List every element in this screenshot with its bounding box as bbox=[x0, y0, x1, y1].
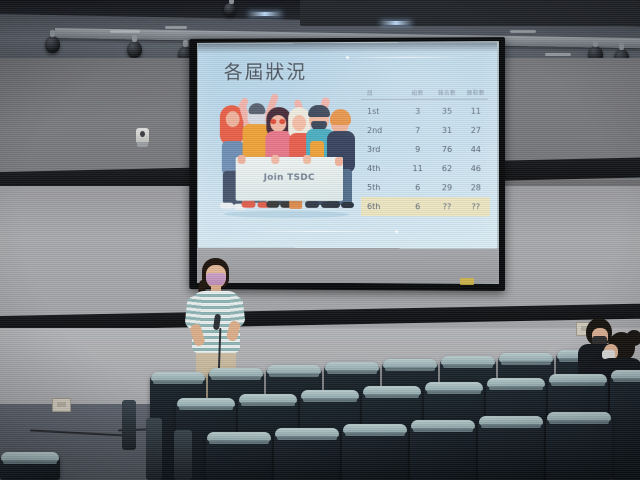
seat bbox=[478, 416, 544, 480]
illustration-ground-shadow bbox=[224, 211, 349, 218]
decor-dot-top bbox=[346, 56, 349, 59]
cell-signups: 29 bbox=[432, 183, 462, 192]
presentation-slide: 各屆狀況 bbox=[198, 42, 497, 248]
table-row: 4th 11 62 46 bbox=[361, 159, 490, 178]
screen-pull-tab bbox=[460, 278, 474, 285]
cell-edition: 3rd bbox=[361, 145, 403, 154]
ceiling-light bbox=[380, 21, 412, 25]
cell-accepted: 27 bbox=[462, 126, 490, 135]
table-row: 5th 6 29 28 bbox=[361, 178, 490, 197]
banner-text: Join TSDC bbox=[236, 173, 343, 183]
cell-teams: 3 bbox=[403, 107, 432, 116]
decor-dot-bottom bbox=[395, 230, 398, 233]
seat bbox=[206, 432, 272, 480]
decor-line-top bbox=[347, 57, 468, 58]
table-row-highlighted: 6th 6 ?? ?? bbox=[361, 197, 490, 216]
cell-signups: 62 bbox=[432, 164, 462, 173]
ceiling-strip bbox=[110, 30, 140, 33]
slide-stats-table: 屆 組數 報名數 錄取數 1st 3 35 11 2nd 7 31 27 3rd… bbox=[361, 83, 490, 217]
ceiling-light bbox=[248, 12, 282, 16]
seat bbox=[610, 370, 640, 480]
ceiling-beam bbox=[300, 0, 640, 26]
spotlight-icon bbox=[127, 41, 142, 58]
spotlight-icon bbox=[45, 36, 60, 53]
cell-teams: 6 bbox=[403, 183, 432, 192]
cell-accepted: 11 bbox=[462, 107, 490, 116]
wall-camera-icon bbox=[136, 128, 149, 143]
cell-teams: 11 bbox=[403, 164, 432, 173]
spotlight-icon bbox=[224, 3, 236, 16]
seat-armrest bbox=[174, 430, 192, 480]
cell-signups: 76 bbox=[432, 145, 462, 154]
slide-illustration: Join TSDC bbox=[212, 91, 359, 223]
ceiling-strip bbox=[510, 30, 536, 33]
table-header-accepted: 錄取數 bbox=[462, 88, 490, 96]
seat bbox=[342, 424, 408, 480]
illustration-banner: Join TSDC bbox=[236, 157, 343, 201]
cell-teams: 7 bbox=[403, 126, 432, 135]
seat bbox=[0, 452, 60, 480]
wall-outlet-icon bbox=[52, 398, 71, 412]
cell-edition: 4th bbox=[361, 164, 403, 173]
decor-line-bottom bbox=[238, 231, 397, 233]
cell-signups: ?? bbox=[432, 202, 462, 211]
table-header-teams: 組數 bbox=[403, 88, 432, 96]
ceiling-strip bbox=[165, 26, 187, 29]
cell-accepted: ?? bbox=[462, 202, 490, 211]
seat-armrest bbox=[122, 400, 136, 450]
cell-teams: 6 bbox=[403, 202, 432, 211]
table-row: 1st 3 35 11 bbox=[361, 102, 490, 121]
slide-title: 各屆狀況 bbox=[224, 57, 307, 84]
cell-edition: 5th bbox=[361, 183, 403, 192]
ceiling-strip bbox=[545, 53, 571, 56]
cell-accepted: 46 bbox=[462, 164, 490, 173]
cell-accepted: 28 bbox=[462, 183, 490, 192]
table-row: 3rd 9 76 44 bbox=[361, 140, 490, 159]
table-header-edition: 屆 bbox=[361, 88, 403, 96]
cell-signups: 35 bbox=[432, 107, 462, 116]
photo-scene: 各屆狀況 bbox=[0, 0, 640, 480]
cell-teams: 9 bbox=[403, 145, 432, 154]
seat bbox=[410, 420, 476, 480]
table-row: 2nd 7 31 27 bbox=[361, 121, 490, 140]
cell-edition: 2nd bbox=[361, 126, 403, 135]
slide-top-shadow bbox=[198, 42, 497, 53]
seat bbox=[546, 412, 612, 480]
table-header-signups: 報名數 bbox=[432, 88, 462, 96]
cell-edition: 6th bbox=[361, 202, 403, 211]
seat bbox=[274, 428, 340, 480]
seat-armrest bbox=[146, 418, 162, 480]
cell-signups: 31 bbox=[432, 126, 462, 135]
cell-edition: 1st bbox=[361, 107, 403, 116]
cell-accepted: 44 bbox=[462, 145, 490, 154]
